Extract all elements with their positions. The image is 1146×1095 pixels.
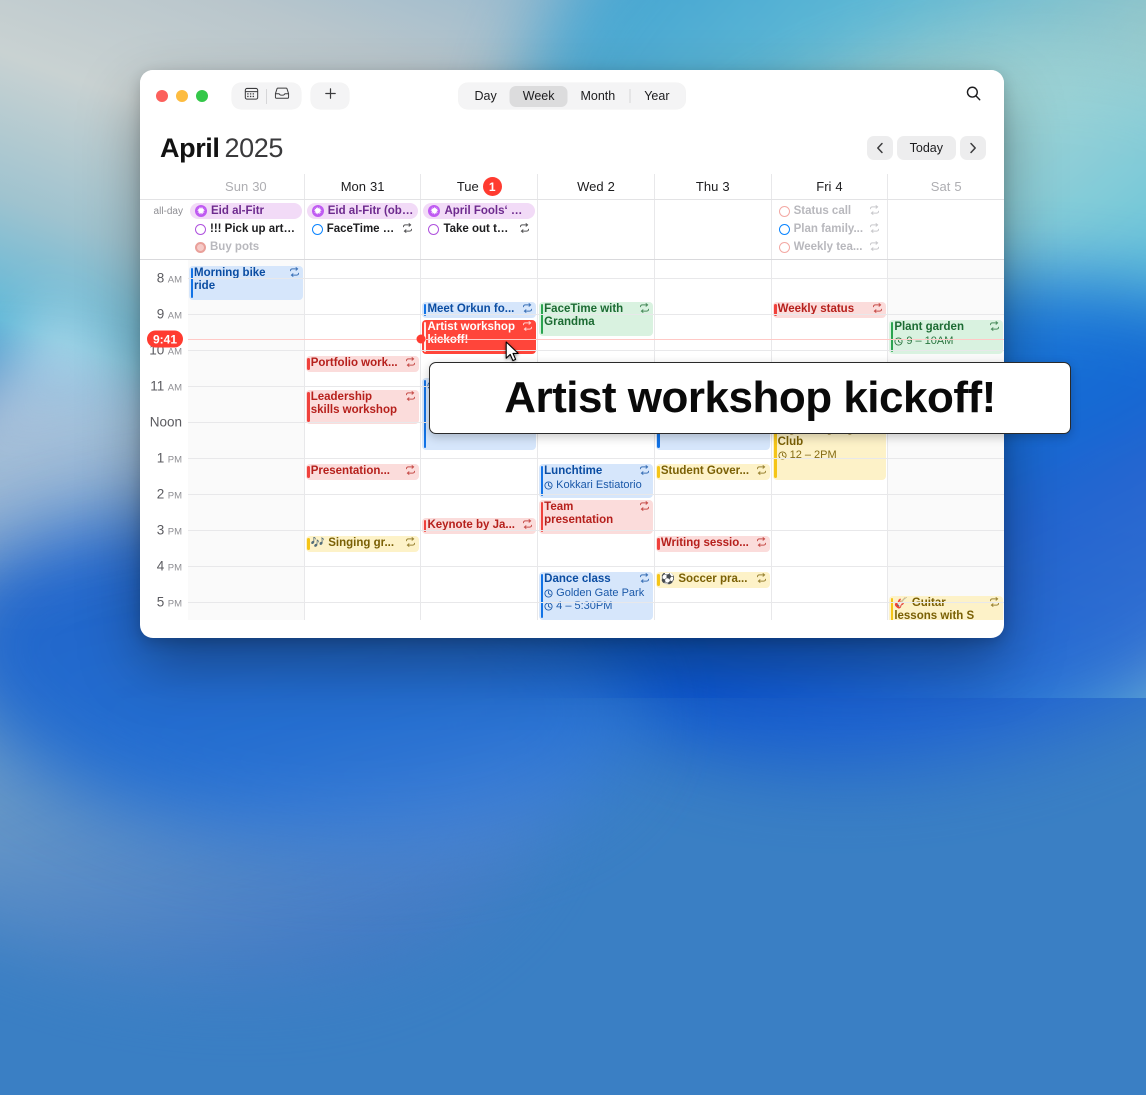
inbox-icon bbox=[274, 86, 290, 106]
day-headers: Sun30Mon31Tue1Wed2Thu3Fri4Sat5 bbox=[140, 174, 1004, 200]
event-title: ⚽ Soccer pra... bbox=[661, 573, 753, 586]
reminder-checkbox-icon bbox=[779, 224, 790, 235]
holiday-star-icon: ✹ bbox=[428, 205, 440, 217]
repeat-icon bbox=[869, 223, 880, 236]
event-title-row: Student Gover... bbox=[661, 465, 767, 479]
reminder-completed-icon bbox=[195, 242, 206, 253]
next-week-button[interactable] bbox=[960, 136, 986, 160]
event-color-bar bbox=[307, 466, 310, 478]
calendar-event[interactable]: Keynote by Ja... bbox=[422, 518, 536, 534]
all-day-holiday[interactable]: ✹April Fools‘ Day bbox=[423, 203, 535, 219]
all-day-row: all-day ✹Eid al-Fitr!!! Pick up arts...B… bbox=[140, 200, 1004, 260]
view-tab-year[interactable]: Year bbox=[631, 86, 682, 107]
event-color-bar bbox=[657, 466, 660, 478]
all-day-column[interactable] bbox=[887, 200, 1004, 259]
close-button[interactable] bbox=[156, 90, 168, 102]
event-title: Team presentation bbox=[544, 501, 636, 527]
event-title-row: Lunchtime bbox=[544, 465, 650, 479]
date-navigation: Today bbox=[867, 136, 986, 160]
all-day-reminder[interactable]: Weekly tea... bbox=[774, 239, 886, 255]
reminder-checkbox-icon bbox=[779, 242, 790, 253]
hour-gridline bbox=[188, 494, 1004, 495]
repeat-icon bbox=[756, 465, 767, 479]
event-title-row: Writing sessio... bbox=[661, 537, 767, 551]
all-day-reminder[interactable]: Buy pots bbox=[190, 239, 302, 255]
repeat-icon bbox=[989, 597, 1000, 611]
calendar-window: Day Week Month Year April2025 bbox=[140, 70, 1004, 638]
repeat-icon bbox=[519, 223, 530, 236]
calendar-event[interactable]: Weekly status bbox=[773, 302, 887, 318]
event-meta: Golden Gate Park bbox=[544, 587, 650, 600]
calendar-event[interactable]: Writing sessio... bbox=[656, 536, 770, 552]
event-title: Presentation... bbox=[311, 465, 403, 478]
calendar-event[interactable]: Student Gover... bbox=[656, 464, 770, 480]
hour-gridline bbox=[188, 350, 1004, 351]
day-header-wed[interactable]: Wed2 bbox=[537, 174, 654, 199]
today-date-badge: 1 bbox=[483, 177, 502, 196]
all-day-column[interactable] bbox=[654, 200, 771, 259]
event-title: Portfolio work... bbox=[311, 357, 403, 370]
day-name: Tue bbox=[457, 179, 479, 194]
tooltip-text: Artist workshop kickoff! bbox=[504, 373, 996, 423]
all-day-item-label: April Fools‘ Day bbox=[444, 205, 530, 217]
repeat-icon bbox=[989, 321, 1000, 335]
calendar-event[interactable]: FaceTime with Grandma bbox=[539, 302, 653, 336]
event-title: FaceTime with Grandma bbox=[544, 303, 636, 329]
inbox-button[interactable] bbox=[267, 84, 297, 108]
day-number: 4 bbox=[835, 179, 842, 194]
event-title: Dance class bbox=[544, 573, 636, 586]
time-grid[interactable]: 8 AM9 AM10 AM11 AMNoon1 PM2 PM3 PM4 PM5 … bbox=[140, 260, 1004, 620]
day-header-mon[interactable]: Mon31 bbox=[304, 174, 421, 199]
event-color-bar bbox=[424, 380, 427, 448]
all-day-item-label: Eid al-Fitr bbox=[211, 205, 297, 217]
day-number: 30 bbox=[252, 179, 266, 194]
event-title: Student Gover... bbox=[661, 465, 753, 478]
repeat-icon bbox=[402, 223, 413, 236]
all-day-item-label: Buy pots bbox=[210, 241, 297, 253]
hour-gridline bbox=[188, 278, 1004, 279]
hour-label: 3 PM bbox=[157, 523, 182, 538]
day-name: Sun bbox=[225, 179, 248, 194]
hour-label: 8 AM bbox=[157, 271, 182, 286]
day-name: Thu bbox=[696, 179, 718, 194]
all-day-reminder[interactable]: !!! Pick up arts... bbox=[190, 221, 302, 237]
calendar-event[interactable]: Dance classGolden Gate Park4 – 5:30PM bbox=[539, 572, 653, 620]
minimize-button[interactable] bbox=[176, 90, 188, 102]
day-number: 3 bbox=[722, 179, 729, 194]
repeat-icon bbox=[639, 573, 650, 587]
event-meta: Kokkari Estiatorio bbox=[544, 479, 650, 492]
day-header-sat[interactable]: Sat5 bbox=[887, 174, 1004, 199]
today-button[interactable]: Today bbox=[897, 136, 956, 160]
all-day-column[interactable]: ✹Eid al-Fitr!!! Pick up arts...Buy pots bbox=[188, 200, 304, 259]
reminder-checkbox-icon bbox=[779, 206, 790, 217]
event-title-row: 🎸 Guitar lessons with S bbox=[894, 597, 1000, 620]
day-header-thu[interactable]: Thu3 bbox=[654, 174, 771, 199]
event-title-row: Portfolio work... bbox=[311, 357, 417, 371]
day-name: Fri bbox=[816, 179, 831, 194]
all-day-column[interactable]: ✹April Fools‘ DayTake out the... bbox=[420, 200, 537, 259]
all-day-item-label: FaceTime G... bbox=[327, 223, 399, 235]
all-day-item-label: !!! Pick up arts... bbox=[210, 223, 297, 235]
repeat-icon bbox=[405, 465, 416, 479]
toolbar-icon-group bbox=[232, 83, 301, 109]
event-tooltip: Artist workshop kickoff! bbox=[429, 362, 1071, 434]
calendar-event[interactable]: Team presentation bbox=[539, 500, 653, 534]
reminder-checkbox-icon bbox=[428, 224, 439, 235]
event-title-row: Team presentation bbox=[544, 501, 650, 527]
holiday-star-icon: ✹ bbox=[312, 205, 324, 217]
all-day-item-label: Eid al-Fitr (obs... bbox=[328, 205, 414, 217]
event-title-row: Plant garden bbox=[894, 321, 1000, 335]
event-title-row: Presentation... bbox=[311, 465, 417, 479]
reminder-checkbox-icon bbox=[312, 224, 323, 235]
all-day-reminder[interactable]: FaceTime G... bbox=[307, 221, 419, 237]
event-meta: 9 – 10AM bbox=[894, 335, 1000, 348]
calendar-event[interactable]: Morning bike ride bbox=[189, 266, 303, 300]
month-name: April bbox=[160, 133, 220, 163]
all-day-item-label: Status call bbox=[794, 205, 866, 217]
all-day-reminder[interactable]: Take out the... bbox=[423, 221, 535, 237]
repeat-icon bbox=[639, 501, 650, 515]
event-title-row: Leadership skills workshop bbox=[311, 391, 417, 417]
event-title-row: Dance class bbox=[544, 573, 650, 587]
all-day-item-label: Plan family... bbox=[794, 223, 866, 235]
event-title: Plant garden bbox=[894, 321, 986, 334]
repeat-icon bbox=[405, 537, 416, 551]
view-tab-day[interactable]: Day bbox=[462, 86, 510, 107]
event-color-bar bbox=[307, 392, 310, 422]
event-color-bar bbox=[891, 322, 894, 352]
hour-gridline bbox=[188, 314, 1004, 315]
calendar-view-button[interactable] bbox=[236, 84, 266, 108]
day-number: 2 bbox=[608, 179, 615, 194]
repeat-icon bbox=[869, 205, 880, 218]
day-name: Wed bbox=[577, 179, 604, 194]
event-color-bar bbox=[307, 358, 310, 370]
event-title: 🎶 Singing gr... bbox=[311, 537, 403, 550]
hour-label: Noon bbox=[150, 415, 182, 430]
calendar-event[interactable]: ⚽ Soccer pra... bbox=[656, 572, 770, 588]
event-title: Lunchtime bbox=[544, 465, 636, 478]
event-meta-label: Golden Gate Park bbox=[556, 587, 644, 600]
calendar-icon bbox=[244, 86, 259, 106]
repeat-icon bbox=[405, 357, 416, 371]
holiday-star-icon: ✹ bbox=[195, 205, 207, 217]
day-name: Sat bbox=[931, 179, 951, 194]
year-label: 2025 bbox=[225, 133, 283, 163]
all-day-columns: ✹Eid al-Fitr!!! Pick up arts...Buy pots✹… bbox=[188, 200, 1004, 259]
event-title: Writing sessio... bbox=[661, 537, 753, 550]
calendar-event[interactable]: LunchtimeKokkari Estiatorio bbox=[539, 464, 653, 498]
event-title-row: Morning bike ride bbox=[194, 267, 300, 293]
hour-label: 4 PM bbox=[157, 559, 182, 574]
repeat-icon bbox=[756, 573, 767, 587]
hour-label: 9 AM bbox=[157, 307, 182, 322]
view-segmented-control: Day Week Month Year bbox=[459, 83, 686, 109]
event-color-bar bbox=[657, 538, 660, 550]
calendar-event[interactable]: Leadership skills workshop bbox=[306, 390, 420, 424]
event-color-bar bbox=[541, 502, 544, 532]
event-title-row: ⚽ Soccer pra... bbox=[661, 573, 767, 587]
month-header: April2025 Today bbox=[140, 122, 1004, 174]
event-meta: 12 – 2PM bbox=[778, 449, 884, 462]
view-tab-month[interactable]: Month bbox=[567, 86, 628, 107]
all-day-holiday[interactable]: ✹Eid al-Fitr bbox=[190, 203, 302, 219]
calendar-event[interactable]: Presentation... bbox=[306, 464, 420, 480]
hour-label: 1 PM bbox=[157, 451, 182, 466]
calendar-event[interactable]: 🎶 Singing gr... bbox=[306, 536, 420, 552]
hour-gridline bbox=[188, 530, 1004, 531]
hour-gridline bbox=[188, 602, 1004, 603]
hour-gridline bbox=[188, 458, 1004, 459]
event-color-bar bbox=[541, 466, 544, 496]
hour-label: 5 PM bbox=[157, 595, 182, 610]
event-color-bar bbox=[191, 268, 194, 298]
window-titlebar: Day Week Month Year bbox=[140, 70, 1004, 122]
add-event-button[interactable] bbox=[311, 83, 349, 109]
event-title: Morning bike ride bbox=[194, 267, 286, 293]
event-color-bar bbox=[541, 574, 544, 618]
view-tab-week[interactable]: Week bbox=[510, 86, 568, 107]
current-time-line bbox=[188, 339, 1004, 340]
search-button[interactable] bbox=[958, 83, 988, 109]
event-color-bar bbox=[541, 304, 544, 334]
hour-label: 2 PM bbox=[157, 487, 182, 502]
event-title-row: FaceTime with Grandma bbox=[544, 303, 650, 329]
calendar-event[interactable]: Portfolio work... bbox=[306, 356, 420, 372]
day-header-fri[interactable]: Fri4 bbox=[771, 174, 888, 199]
day-header-tue[interactable]: Tue1 bbox=[420, 174, 537, 199]
search-icon bbox=[965, 85, 982, 107]
event-color-bar bbox=[657, 574, 660, 586]
plus-icon bbox=[323, 86, 338, 106]
day-header-sun[interactable]: Sun30 bbox=[188, 174, 304, 199]
page-title: April2025 bbox=[160, 133, 283, 164]
day-name: Mon bbox=[341, 179, 366, 194]
repeat-icon bbox=[405, 391, 416, 405]
calendar-event[interactable]: 🎸 Guitar lessons with S bbox=[889, 596, 1003, 620]
all-day-column[interactable]: ✹Eid al-Fitr (obs...FaceTime G... bbox=[304, 200, 421, 259]
repeat-icon bbox=[869, 241, 880, 254]
hour-label: 11 AM bbox=[150, 379, 182, 394]
all-day-reminder[interactable]: Plan family... bbox=[774, 221, 886, 237]
calendar-event[interactable]: Plant garden9 – 10AM bbox=[889, 320, 1003, 354]
event-meta-label: 12 – 2PM bbox=[790, 449, 837, 462]
mouse-cursor bbox=[505, 341, 520, 368]
all-day-label: all-day bbox=[140, 200, 188, 259]
current-time-dot bbox=[417, 335, 426, 344]
all-day-column[interactable]: Status callPlan family...Weekly tea... bbox=[771, 200, 888, 259]
reminder-checkbox-icon bbox=[195, 224, 206, 235]
zoom-button[interactable] bbox=[196, 90, 208, 102]
repeat-icon bbox=[639, 465, 650, 479]
current-time-badge: 9:41 bbox=[147, 331, 183, 348]
event-title: Leadership skills workshop bbox=[311, 391, 403, 417]
calendar-event[interactable]: Meet Orkun fo... bbox=[422, 302, 536, 318]
hour-gutter: 8 AM9 AM10 AM11 AMNoon1 PM2 PM3 PM4 PM5 … bbox=[140, 260, 188, 620]
all-day-holiday[interactable]: ✹Eid al-Fitr (obs... bbox=[307, 203, 419, 219]
day-number: 5 bbox=[954, 179, 961, 194]
repeat-icon bbox=[756, 537, 767, 551]
repeat-icon bbox=[522, 321, 533, 335]
event-meta-label: Kokkari Estiatorio bbox=[556, 479, 642, 492]
day-number: 31 bbox=[370, 179, 384, 194]
traffic-lights bbox=[156, 90, 208, 102]
all-day-column[interactable] bbox=[537, 200, 654, 259]
event-title: 🎸 Guitar lessons with S bbox=[894, 597, 986, 620]
all-day-item-label: Weekly tea... bbox=[794, 241, 866, 253]
all-day-reminder[interactable]: Status call bbox=[774, 203, 886, 219]
event-meta-label: 9 – 10AM bbox=[906, 335, 953, 348]
event-title-row: 🎶 Singing gr... bbox=[311, 537, 417, 551]
hour-gridline bbox=[188, 566, 1004, 567]
all-day-item-label: Take out the... bbox=[443, 223, 515, 235]
previous-week-button[interactable] bbox=[867, 136, 893, 160]
event-color-bar bbox=[307, 538, 310, 550]
segment-divider bbox=[629, 89, 630, 103]
